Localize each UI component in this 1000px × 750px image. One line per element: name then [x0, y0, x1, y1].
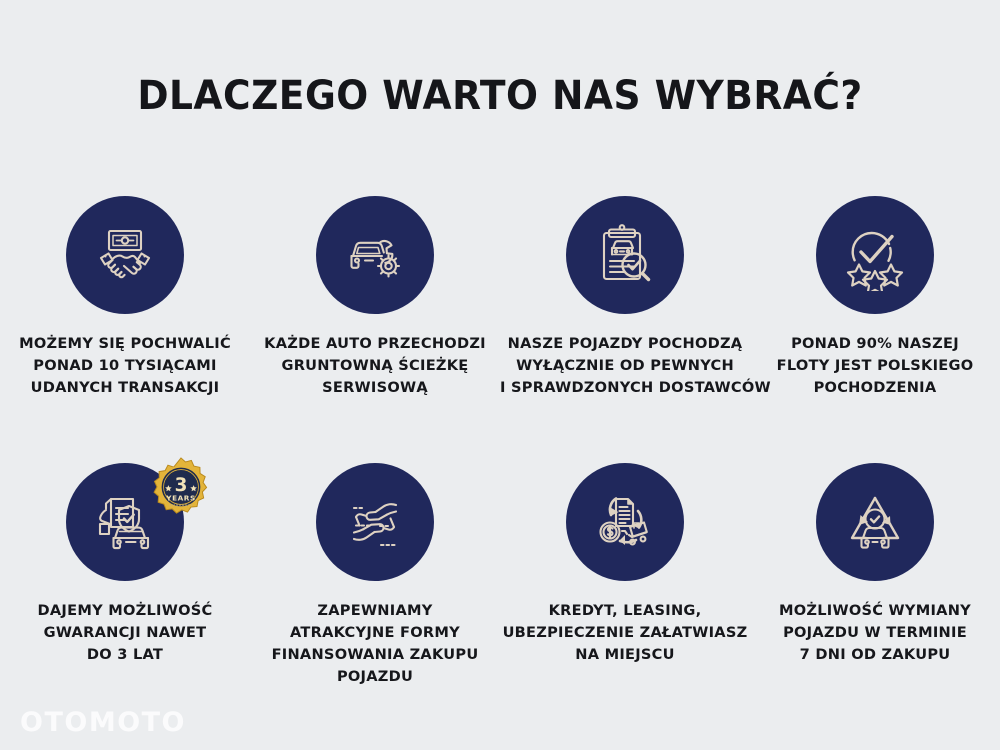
- caption-line: I SPRAWDZONYCH DOSTAWCÓW: [500, 377, 750, 399]
- hands-money-exchange-icon: [316, 463, 434, 581]
- caption-line: UBEZPIECZENIE ZAŁATWIASZ: [500, 622, 750, 644]
- features-row-2: 3 YEARS WARRANTY DAJEMY MOŻLIWOŚĆ GWARAN…: [0, 463, 1000, 689]
- features-row-1: MOŻEMY SIĘ POCHWALIĆ PONAD 10 TYSIĄCAMI …: [0, 196, 1000, 400]
- caption-line: WYŁĄCZNIE OD PEWNYCH: [500, 355, 750, 377]
- icon-wrap: [566, 463, 684, 581]
- caption-line: DO 3 LAT: [0, 644, 250, 666]
- caption-line: GRUNTOWNĄ ŚCIEŻKĘ: [250, 355, 500, 377]
- icon-wrap: [316, 463, 434, 581]
- caption-line: ZAPEWNIAMY: [250, 600, 500, 622]
- feature-card: 3 YEARS WARRANTY DAJEMY MOŻLIWOŚĆ GWARAN…: [0, 463, 250, 689]
- caption-line: 7 DNI OD ZAKUPU: [750, 644, 1000, 666]
- feature-card: NASZE POJAZDY POCHODZĄ WYŁĄCZNIE OD PEWN…: [500, 196, 750, 400]
- car-service-wrench-gear-icon: [316, 196, 434, 314]
- clipboard-car-inspection-icon: [566, 196, 684, 314]
- caption-line: KREDYT, LEASING,: [500, 600, 750, 622]
- caption-line: UDANYCH TRANSAKCJI: [0, 377, 250, 399]
- caption-line: KAŻDE AUTO PRZECHODZI: [250, 333, 500, 355]
- icon-wrap: [316, 196, 434, 314]
- handshake-money-icon: [66, 196, 184, 314]
- icon-wrap: [816, 196, 934, 314]
- feature-caption: MOŻEMY SIĘ POCHWALIĆ PONAD 10 TYSIĄCAMI …: [0, 333, 250, 400]
- caption-line: ATRAKCYJNE FORMY: [250, 622, 500, 644]
- badge-sublabel: WARRANTY: [169, 502, 193, 507]
- caption-line: SERWISOWĄ: [250, 377, 500, 399]
- document-cart-coin-cycle-icon: [566, 463, 684, 581]
- feature-caption: ZAPEWNIAMY ATRAKCYJNE FORMY FINANSOWANIA…: [250, 600, 500, 689]
- icon-wrap: [566, 196, 684, 314]
- otomoto-logo-text: OTOMOTO: [20, 707, 186, 738]
- caption-line: FLOTY JEST POLSKIEGO: [750, 355, 1000, 377]
- feature-card: MOŻEMY SIĘ POCHWALIĆ PONAD 10 TYSIĄCAMI …: [0, 196, 250, 400]
- caption-line: MOŻEMY SIĘ POCHWALIĆ: [0, 333, 250, 355]
- icon-wrap: [66, 196, 184, 314]
- caption-line: POJAZDU W TERMINIE: [750, 622, 1000, 644]
- feature-caption: PONAD 90% NASZEJ FLOTY JEST POLSKIEGO PO…: [750, 333, 1000, 400]
- caption-line: PONAD 90% NASZEJ: [750, 333, 1000, 355]
- page-title: DLACZEGO WARTO NAS WYBRAĆ?: [30, 73, 970, 119]
- otomoto-logo: OTOMOTO: [20, 702, 186, 742]
- caption-line: GWARANCJI NAWET: [0, 622, 250, 644]
- caption-line: FINANSOWANIA ZAKUPU: [250, 644, 500, 666]
- caption-line: PONAD 10 TYSIĄCAMI: [0, 355, 250, 377]
- warranty-3-years-badge: 3 YEARS WARRANTY: [150, 456, 212, 518]
- feature-card: KREDYT, LEASING, UBEZPIECZENIE ZAŁATWIAS…: [500, 463, 750, 689]
- icon-wrap: 3 YEARS WARRANTY: [66, 463, 184, 581]
- caption-line: NA MIEJSCU: [500, 644, 750, 666]
- caption-line: POJAZDU: [250, 666, 500, 688]
- caption-line: NASZE POJAZDY POCHODZĄ: [500, 333, 750, 355]
- caption-line: POCHODZENIA: [750, 377, 1000, 399]
- feature-caption: MOŻLIWOŚĆ WYMIANY POJAZDU W TERMINIE 7 D…: [750, 600, 1000, 667]
- icon-wrap: [816, 463, 934, 581]
- feature-card: MOŻLIWOŚĆ WYMIANY POJAZDU W TERMINIE 7 D…: [750, 463, 1000, 689]
- features-grid: MOŻEMY SIĘ POCHWALIĆ PONAD 10 TYSIĄCAMI …: [0, 196, 1000, 688]
- feature-caption: NASZE POJAZDY POCHODZĄ WYŁĄCZNIE OD PEWN…: [500, 333, 750, 400]
- promo-banner: DLACZEGO WARTO NAS WYBRAĆ?: [0, 0, 1000, 750]
- caption-line: DAJEMY MOŻLIWOŚĆ: [0, 600, 250, 622]
- feature-caption: KAŻDE AUTO PRZECHODZI GRUNTOWNĄ ŚCIEŻKĘ …: [250, 333, 500, 400]
- feature-card: ZAPEWNIAMY ATRAKCYJNE FORMY FINANSOWANIA…: [250, 463, 500, 689]
- feature-caption: KREDYT, LEASING, UBEZPIECZENIE ZAŁATWIAS…: [500, 600, 750, 667]
- feature-card: PONAD 90% NASZEJ FLOTY JEST POLSKIEGO PO…: [750, 196, 1000, 400]
- badge-label: YEARS: [165, 493, 196, 502]
- feature-card: KAŻDE AUTO PRZECHODZI GRUNTOWNĄ ŚCIEŻKĘ …: [250, 196, 500, 400]
- checkmark-stars-rating-icon: [816, 196, 934, 314]
- car-exchange-recycle-check-icon: [816, 463, 934, 581]
- caption-line: MOŻLIWOŚĆ WYMIANY: [750, 600, 1000, 622]
- feature-caption: DAJEMY MOŻLIWOŚĆ GWARANCJI NAWET DO 3 LA…: [0, 600, 250, 667]
